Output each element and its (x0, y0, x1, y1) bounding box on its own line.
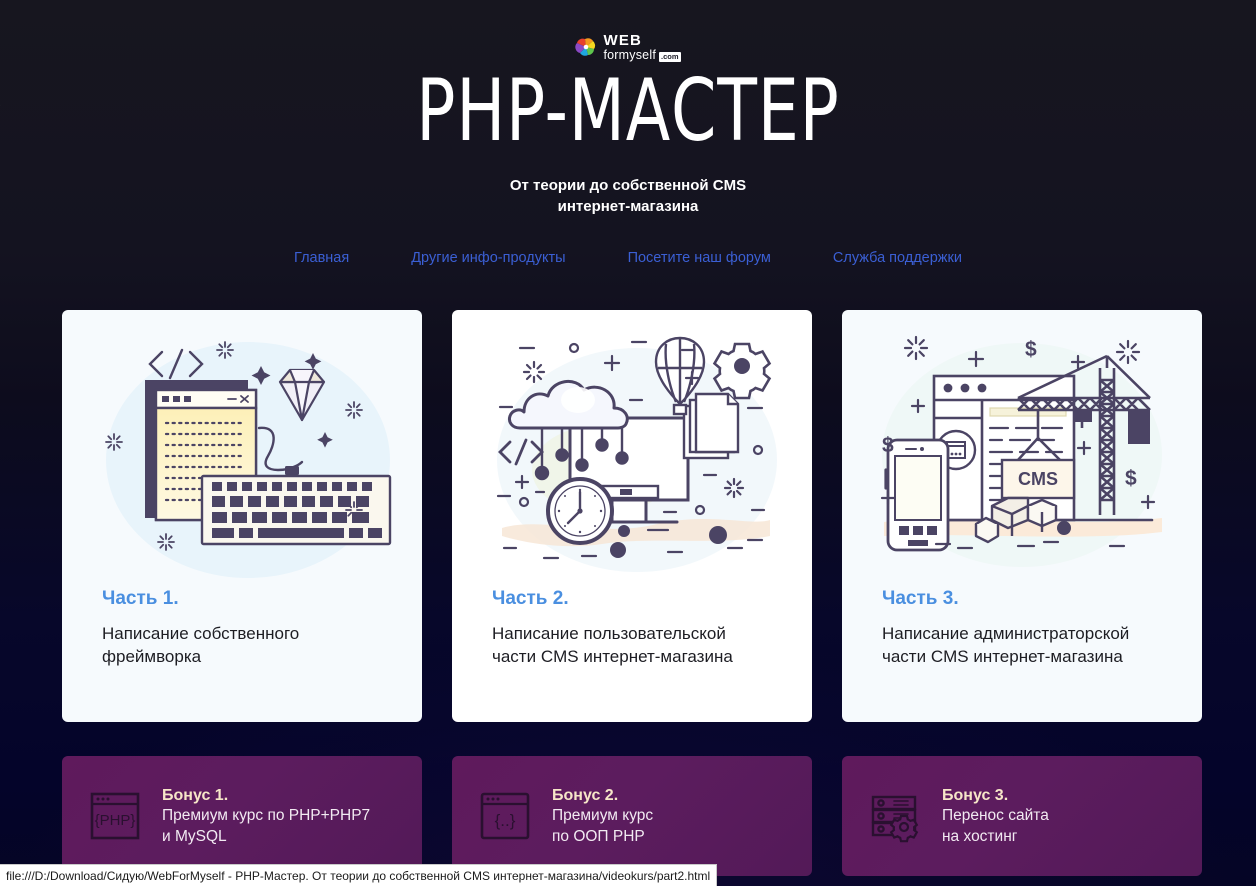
nav-link-home[interactable]: Главная (294, 250, 349, 266)
dollar-icon-2: $ (882, 434, 894, 457)
page-title: PHP-МАСТЕР (100, 68, 1155, 154)
bonus-3-title: Бонус 3. (942, 785, 1049, 806)
part-3-illustration: CMS (842, 310, 1202, 588)
bonus-1-description: Премиум курс по PHP+PHP7 и MySQL (162, 806, 370, 847)
bonus-2-desc-line-2: по ООП PHP (552, 827, 653, 848)
bonus-3-text: Бонус 3. Перенос сайта на хостинг (942, 785, 1049, 847)
server-gear-icon (868, 789, 922, 843)
part-2-illustration (452, 310, 812, 588)
site-logo[interactable]: WEB formyself .com (0, 33, 1256, 62)
bonus-3-title-dot: . (1004, 787, 1008, 804)
php-icon-label: {PHP} (95, 812, 136, 829)
bonus-1-desc-line-1: Премиум курс по PHP+PHP7 (162, 806, 370, 827)
part-1-kicker: Часть 1. (102, 588, 382, 610)
bonus-1-text: Бонус 1. Премиум курс по PHP+PHP7 и MySQ… (162, 785, 370, 847)
braces-icon-label: {..} (495, 811, 516, 830)
part-2-body: Часть 2. Написание пользовательской част… (452, 588, 812, 669)
parts-card-grid: Часть 1. Написание собственного фреймвор… (62, 310, 1202, 722)
bonus-2-title-dot: . (614, 787, 618, 804)
logo-wordmark: WEB formyself .com (603, 33, 680, 62)
bonus-card-2[interactable]: {..} Бонус 2. Премиум курс по ООП PHP (452, 756, 812, 876)
dollar-icon-3: $ (1125, 467, 1137, 490)
bonus-3-title-text: Бонус 3 (942, 787, 1004, 804)
bonus-card-grid: {PHP} Бонус 1. Премиум курс по PHP+PHP7 … (62, 756, 1202, 876)
part-1-illustration (62, 310, 422, 588)
part-1-body: Часть 1. Написание собственного фреймвор… (62, 588, 422, 669)
logo-web-text: WEB (603, 33, 680, 48)
bonus-card-1[interactable]: {PHP} Бонус 1. Премиум курс по PHP+PHP7 … (62, 756, 422, 876)
part-2-desc-line-2: части CMS интернет-магазина (492, 645, 772, 668)
cms-sign-label: CMS (1018, 469, 1058, 489)
subtitle-line-1: От теории до собственной CMS (0, 175, 1256, 196)
bonus-card-3[interactable]: Бонус 3. Перенос сайта на хостинг (842, 756, 1202, 876)
status-bar-url: file:///D:/Download/Сидую/WebForMyself -… (6, 869, 710, 883)
bonus-1-desc-line-2: и MySQL (162, 827, 370, 848)
part-3-description: Написание администраторской части CMS ин… (882, 622, 1162, 669)
part-3-kicker: Часть 3. (882, 588, 1162, 610)
php-window-icon: {PHP} (88, 789, 142, 843)
main-navigation: Главная Другие инфо-продукты Посетите на… (0, 250, 1256, 266)
part-1-kicker-text: Часть 1 (102, 588, 173, 609)
part-2-desc-line-1: Написание пользовательской (492, 622, 772, 645)
part-card-3[interactable]: CMS (842, 310, 1202, 722)
part-2-kicker: Часть 2. (492, 588, 772, 610)
part-1-kicker-dot: . (173, 588, 178, 609)
part-1-desc-line-1: Написание собственного (102, 622, 382, 645)
bonus-2-text: Бонус 2. Премиум курс по ООП PHP (552, 785, 653, 847)
page-subtitle: От теории до собственной CMS интернет-ма… (0, 175, 1256, 218)
part-3-body: Часть 3. Написание администраторской час… (842, 588, 1202, 669)
bonus-1-title-text: Бонус 1 (162, 787, 224, 804)
bonus-1-title: Бонус 1. (162, 785, 370, 806)
part-1-description: Написание собственного фреймворка (102, 622, 382, 669)
part-1-desc-line-2: фреймворка (102, 645, 382, 668)
braces-window-icon: {..} (478, 789, 532, 843)
part-card-2[interactable]: Часть 2. Написание пользовательской част… (452, 310, 812, 722)
dollar-icon-1: $ (1025, 338, 1037, 361)
page-root: WEB formyself .com PHP-МАСТЕР От теории … (0, 0, 1256, 886)
subtitle-line-2: интернет-магазина (0, 196, 1256, 217)
part-card-1[interactable]: Часть 1. Написание собственного фреймвор… (62, 310, 422, 722)
bonus-1-title-dot: . (224, 787, 228, 804)
browser-status-bar: file:///D:/Download/Сидую/WebForMyself -… (0, 864, 717, 886)
logo-formyself-text: formyself (603, 49, 656, 62)
bonus-2-description: Премиум курс по ООП PHP (552, 806, 653, 847)
bonus-2-title-text: Бонус 2 (552, 787, 614, 804)
nav-link-other-products[interactable]: Другие инфо-продукты (411, 250, 565, 266)
pinwheel-logo-icon (575, 36, 597, 58)
bonus-2-desc-line-1: Премиум курс (552, 806, 653, 827)
part-3-kicker-text: Часть 3 (882, 588, 953, 609)
bonus-3-desc-line-1: Перенос сайта (942, 806, 1049, 827)
part-2-kicker-dot: . (563, 588, 568, 609)
part-2-kicker-text: Часть 2 (492, 588, 563, 609)
nav-link-support[interactable]: Служба поддержки (833, 250, 962, 266)
nav-link-forum[interactable]: Посетите наш форум (628, 250, 771, 266)
part-3-kicker-dot: . (953, 588, 958, 609)
part-2-description: Написание пользовательской части CMS инт… (492, 622, 772, 669)
bonus-2-title: Бонус 2. (552, 785, 653, 806)
part-3-desc-line-2: части CMS интернет-магазина (882, 645, 1162, 668)
bonus-3-desc-line-2: на хостинг (942, 827, 1049, 848)
bonus-3-description: Перенос сайта на хостинг (942, 806, 1049, 847)
part-3-desc-line-1: Написание администраторской (882, 622, 1162, 645)
